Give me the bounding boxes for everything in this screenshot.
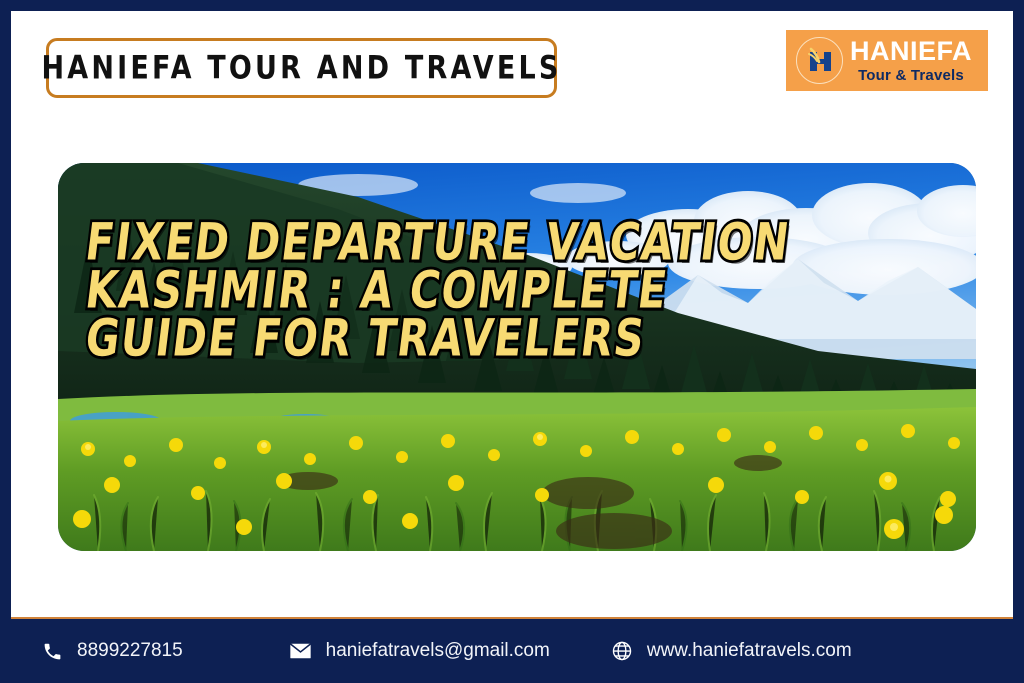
contact-footer: 8899227815 haniefatravels@gmail.com <box>11 617 1013 683</box>
banner-frame: HANIEFA TOUR AND TRAVELS HANIEFA Tour & … <box>0 0 1024 683</box>
globe-icon <box>610 639 634 663</box>
contact-phone[interactable]: 8899227815 <box>40 639 183 663</box>
company-logo[interactable]: HANIEFA Tour & Travels <box>786 30 988 91</box>
logo-tagline: Tour & Travels <box>850 68 972 83</box>
brand-title-text: HANIEFA TOUR AND TRAVELS <box>41 50 561 87</box>
logo-company-name: HANIEFA <box>850 38 972 65</box>
hero-landscape-image <box>58 163 976 551</box>
phone-icon <box>40 639 64 663</box>
banner-sheet: HANIEFA TOUR AND TRAVELS HANIEFA Tour & … <box>11 11 1013 683</box>
contact-phone-label: 8899227815 <box>77 640 183 662</box>
contact-email-label: haniefatravels@gmail.com <box>326 640 550 662</box>
contact-website-label: www.haniefatravels.com <box>647 640 852 662</box>
hero-banner: FIXED DEPARTURE VACATION KASHMIR : A COM… <box>58 163 976 551</box>
haniefa-h-monogram-icon <box>796 37 843 84</box>
brand-title-box: HANIEFA TOUR AND TRAVELS <box>46 38 557 98</box>
envelope-icon <box>289 639 313 663</box>
contact-email[interactable]: haniefatravels@gmail.com <box>289 639 550 663</box>
header: HANIEFA TOUR AND TRAVELS HANIEFA Tour & … <box>11 11 1013 121</box>
contact-website[interactable]: www.haniefatravels.com <box>610 639 852 663</box>
